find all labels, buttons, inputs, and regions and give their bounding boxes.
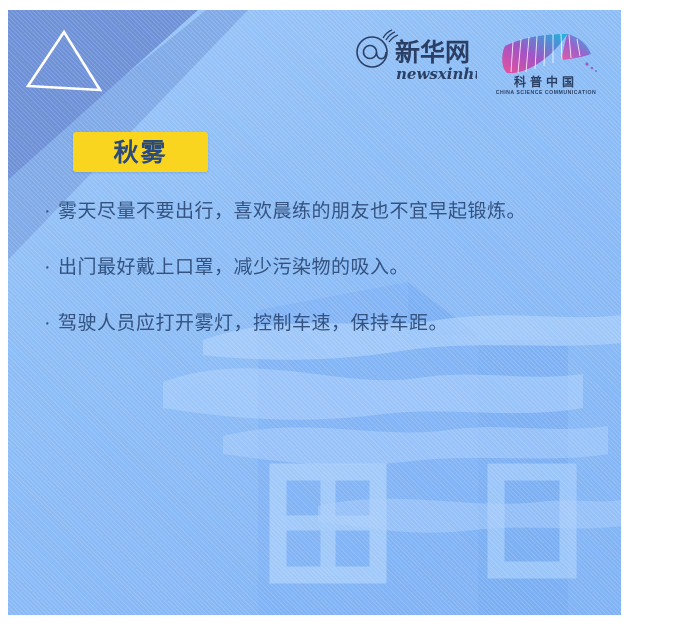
fog-wave-2 (163, 368, 583, 419)
china-science-communication-logo: 科普中国 CHINA SCIENCE COMMUNICATION (491, 28, 601, 96)
xinhuanet-logo: 新华网 newsxinhua (355, 28, 477, 86)
list-item: · 驾驶人员应打开雾灯，控制车速，保持车距。 (44, 310, 584, 336)
bullet-marker-icon: · (44, 254, 58, 280)
poster-canvas: 新华网 newsxinhua (8, 10, 621, 615)
fog-wave-3 (223, 426, 608, 465)
kepu-chinese-text: 科普中国 (514, 74, 578, 89)
list-item: · 雾天尽量不要出行，喜欢晨练的朋友也不宜早起锻炼。 (44, 198, 584, 224)
title-badge-text: 秋雾 (113, 140, 167, 165)
bullet-text: 雾天尽量不要出行，喜欢晨练的朋友也不宜早起锻炼。 (58, 198, 526, 224)
bullet-text: 驾驶人员应打开雾灯，控制车速，保持车距。 (58, 310, 448, 336)
title-badge: 秋雾 (73, 132, 208, 172)
fog-wave-4 (318, 499, 621, 533)
xinhua-latin-text: newsxinhua (396, 65, 477, 83)
logo-group: 新华网 newsxinhua (355, 28, 601, 96)
list-item: · 出门最好戴上口罩，减少污染物的吸入。 (44, 254, 584, 280)
kepu-wing-mark (502, 34, 597, 73)
xinhua-chinese-text: 新华网 (395, 38, 470, 67)
bullet-text: 出门最好戴上口罩，减少污染物的吸入。 (58, 254, 409, 280)
bullet-list: · 雾天尽量不要出行，喜欢晨练的朋友也不宜早起锻炼。 · 出门最好戴上口罩，减少… (44, 198, 584, 366)
bullet-marker-icon: · (44, 310, 58, 336)
bullet-marker-icon: · (44, 198, 58, 224)
kepu-latin-text: CHINA SCIENCE COMMUNICATION (496, 90, 597, 96)
